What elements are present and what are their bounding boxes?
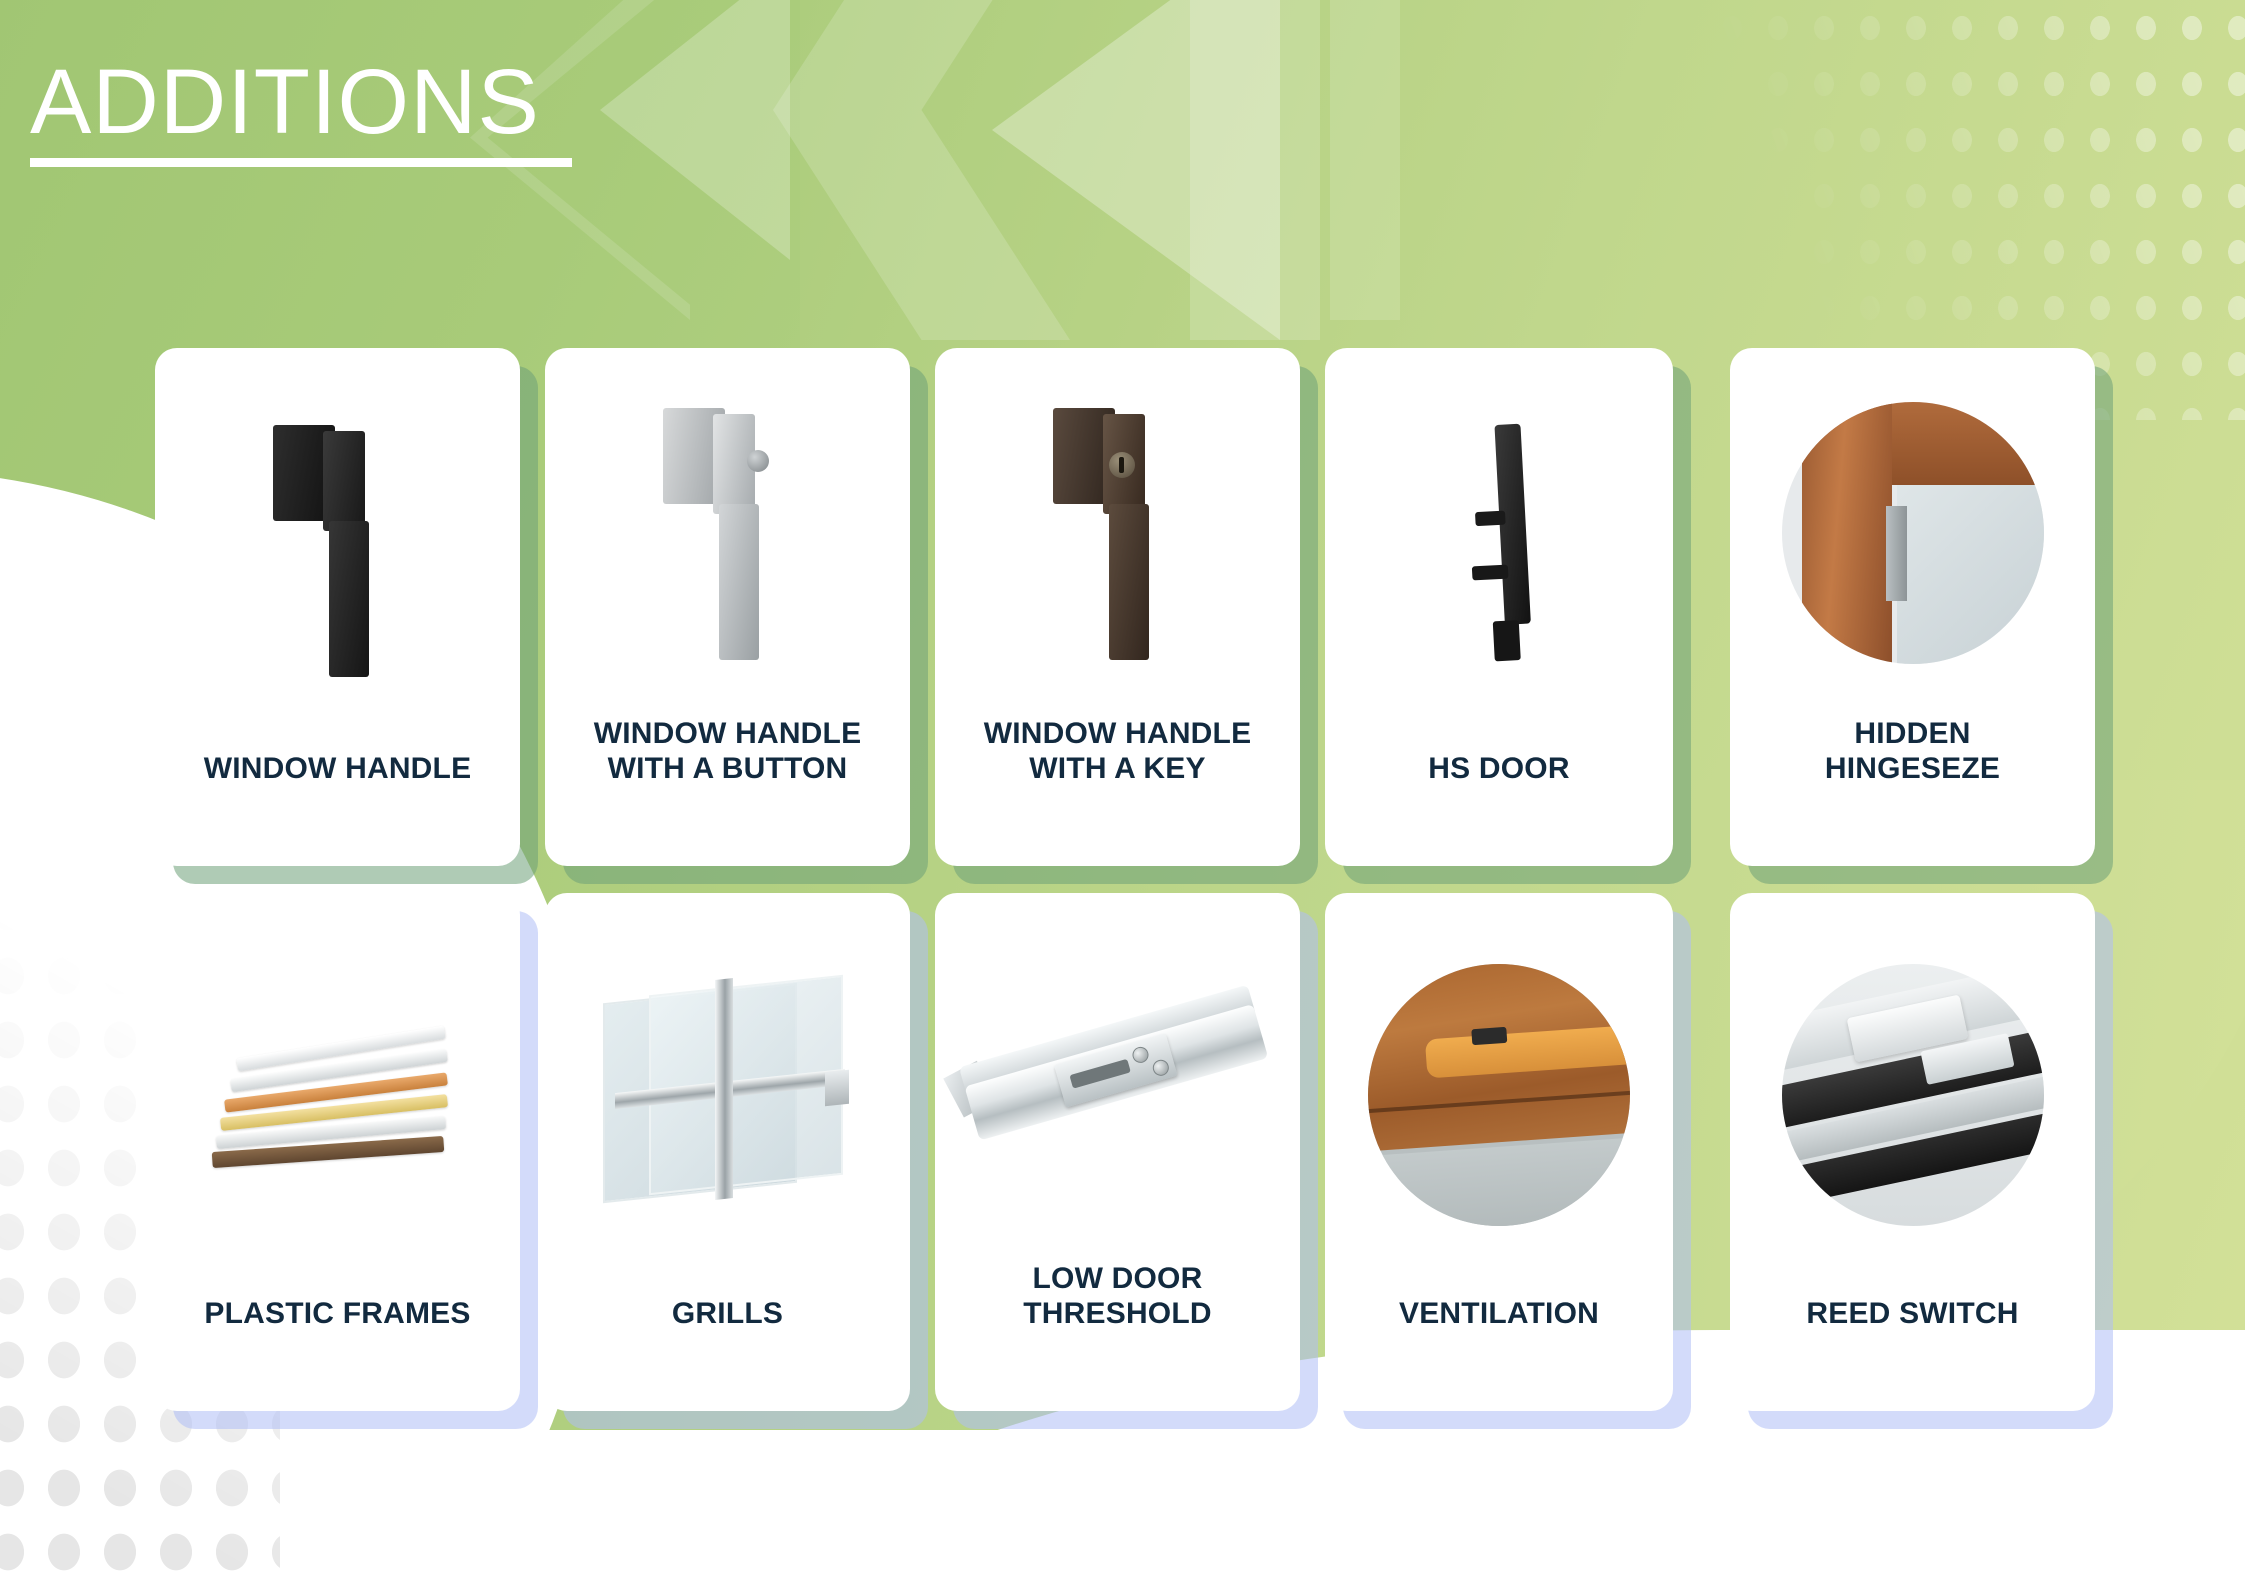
card-footer-spacer: [1325, 1331, 1673, 1411]
ventilation-icon: [1325, 893, 1673, 1297]
card-footer-spacer: [1325, 786, 1673, 866]
slide-canvas: ADDITIONS WINDOW HANDLE: [0, 0, 2245, 1587]
card-low-door-threshold[interactable]: LOW DOOR THRESHOLD: [935, 893, 1300, 1411]
card-ventilation[interactable]: VENTILATION: [1325, 893, 1673, 1411]
card-media-plastic-frames: [155, 893, 520, 1297]
card-reed-switch[interactable]: REED SWITCH: [1730, 893, 2095, 1411]
window-handle-silver-icon: [545, 348, 910, 717]
card-hs-door[interactable]: HS DOOR: [1325, 348, 1673, 866]
card-footer-spacer: [155, 1331, 520, 1411]
card-media-reed-switch: [1730, 893, 2095, 1297]
low-door-threshold-icon: [935, 893, 1300, 1262]
window-handle-black-icon: [155, 348, 520, 752]
hs-door-handle-icon: [1325, 348, 1673, 752]
card-grills[interactable]: GRILLS: [545, 893, 910, 1411]
card-media-low-door-threshold: [935, 893, 1300, 1262]
card-grid: WINDOW HANDLE WINDOW HANDLE WITH A BUTTO…: [0, 0, 2245, 1587]
card-window-handle[interactable]: WINDOW HANDLE: [155, 348, 520, 866]
card-footer-spacer: [155, 786, 520, 866]
plastic-frames-icon: [155, 893, 520, 1297]
card-media-ventilation: [1325, 893, 1673, 1297]
card-label: PLASTIC FRAMES: [155, 1297, 520, 1332]
hidden-hinge-icon: [1730, 348, 2095, 717]
card-label: HS DOOR: [1325, 752, 1673, 787]
card-media-hs-door: [1325, 348, 1673, 752]
card-window-handle-with-a-button[interactable]: WINDOW HANDLE WITH A BUTTON: [545, 348, 910, 866]
card-plastic-frames[interactable]: PLASTIC FRAMES: [155, 893, 520, 1411]
card-footer-spacer: [935, 786, 1300, 866]
card-media-window-handle: [155, 348, 520, 752]
window-handle-brown-icon: [935, 348, 1300, 717]
grills-icon: [545, 893, 910, 1297]
card-label: HIDDEN HINGESEZE: [1730, 717, 2095, 786]
card-media-window-handle-button: [545, 348, 910, 717]
card-media-window-handle-key: [935, 348, 1300, 717]
card-media-hidden-hinge: [1730, 348, 2095, 717]
card-footer-spacer: [545, 1331, 910, 1411]
card-label: WINDOW HANDLE WITH A BUTTON: [545, 717, 910, 786]
card-label: VENTILATION: [1325, 1297, 1673, 1332]
card-label: WINDOW HANDLE: [155, 752, 520, 787]
card-footer-spacer: [1730, 786, 2095, 866]
card-window-handle-with-a-key[interactable]: WINDOW HANDLE WITH A KEY: [935, 348, 1300, 866]
card-label: REED SWITCH: [1730, 1297, 2095, 1332]
card-hidden-hingeseze[interactable]: HIDDEN HINGESEZE: [1730, 348, 2095, 866]
card-footer-spacer: [545, 786, 910, 866]
card-footer-spacer: [1730, 1331, 2095, 1411]
card-label: WINDOW HANDLE WITH A KEY: [935, 717, 1300, 786]
card-footer-spacer: [935, 1331, 1300, 1411]
card-label: GRILLS: [545, 1297, 910, 1332]
card-media-grills: [545, 893, 910, 1297]
card-label: LOW DOOR THRESHOLD: [935, 1262, 1300, 1331]
reed-switch-icon: [1730, 893, 2095, 1297]
